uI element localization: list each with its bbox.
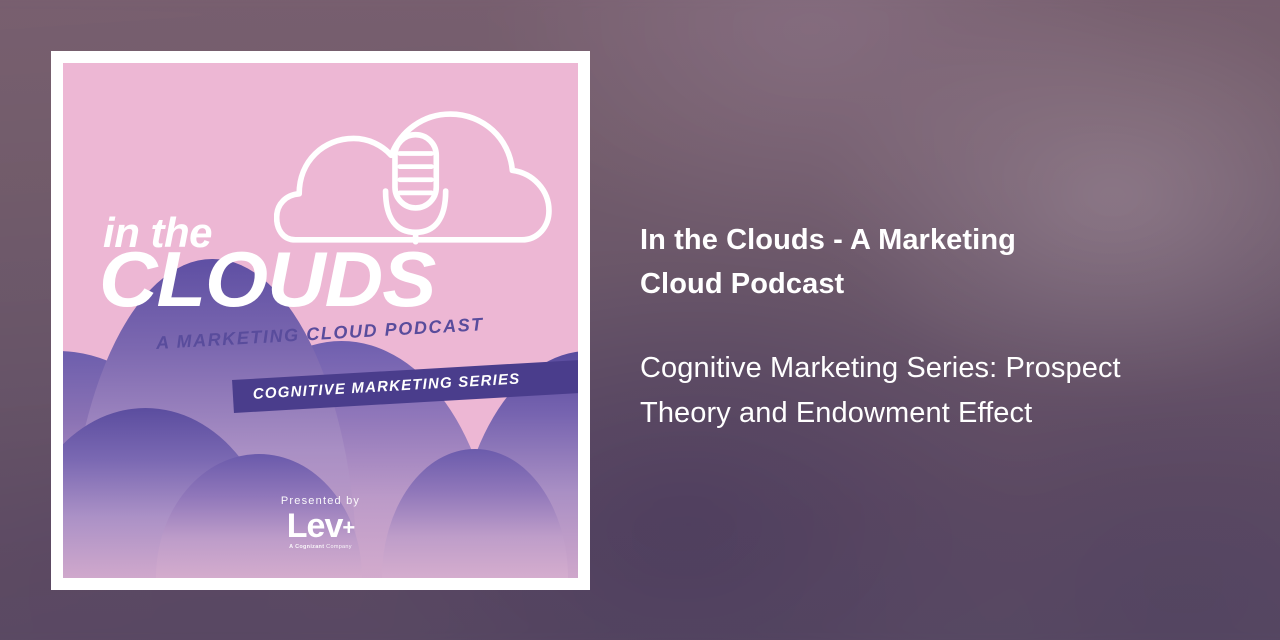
- lev-logo-text: Lev: [287, 507, 343, 545]
- presenter-block: Presented by Lev+ A Cognizant Company: [63, 495, 578, 550]
- episode-info-panel: In the Clouds - A Marketing Cloud Podcas…: [640, 218, 1200, 436]
- presented-by-label: Presented by: [63, 495, 578, 507]
- episode-title: Cognitive Marketing Series: Prospect The…: [640, 346, 1170, 436]
- lev-plus-mark: +: [342, 515, 354, 540]
- wordmark-line-clouds: CLOUDS: [99, 244, 560, 316]
- artwork-wordmark: in the CLOUDS: [99, 212, 542, 316]
- lev-tagline-accent: A Cognizant: [289, 544, 324, 550]
- lev-tagline-rest: Company: [324, 544, 351, 550]
- podcast-title: In the Clouds - A Marketing Cloud Podcas…: [640, 218, 1090, 306]
- lev-tagline: A Cognizant Company: [63, 544, 578, 550]
- podcast-artwork[interactable]: in the CLOUDS A MARKETING CLOUD PODCAST …: [63, 63, 578, 578]
- lev-logo: Lev+: [63, 509, 578, 543]
- podcast-artwork-frame[interactable]: in the CLOUDS A MARKETING CLOUD PODCAST …: [51, 51, 590, 590]
